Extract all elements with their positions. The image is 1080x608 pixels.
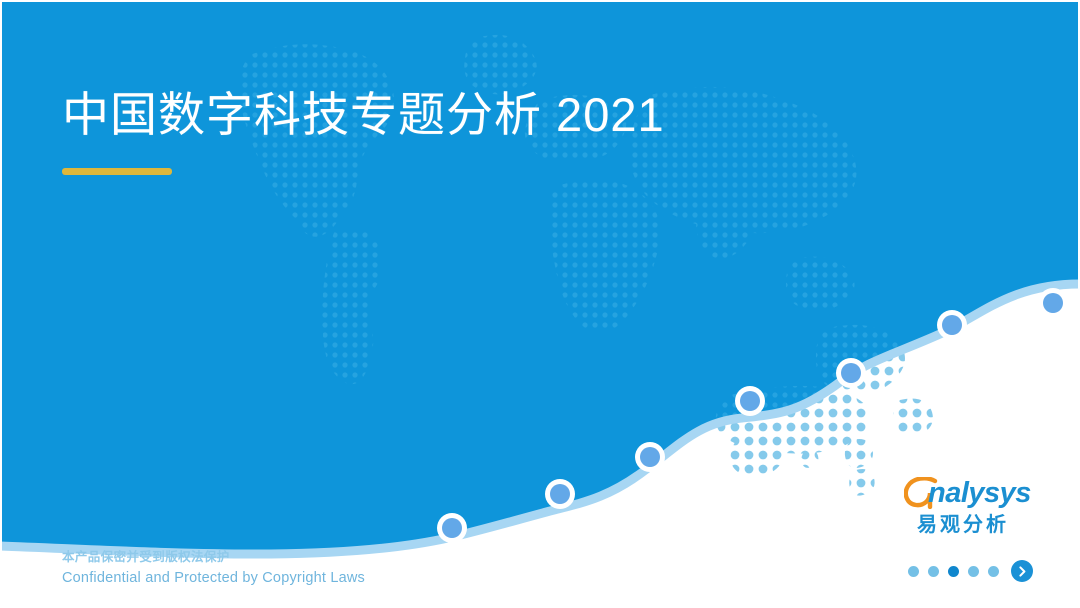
logo-wordmark-text: nalysys [928, 476, 1031, 510]
curve-marker [1038, 288, 1068, 318]
pager-dot-4[interactable] [968, 566, 979, 577]
curve-marker [437, 513, 467, 543]
presentation-slide: 中国数字科技专题分析 2021 本产品保密并受到版权法保护 Confidenti… [0, 0, 1080, 608]
curve-marker [937, 310, 967, 340]
curve-marker [635, 442, 665, 472]
title-accent-rule [62, 168, 172, 175]
curve-marker [545, 479, 575, 509]
copyright-notice-en: Confidential and Protected by Copyright … [62, 569, 365, 588]
copyright-notice-cn: 本产品保密并受到版权法保护 [62, 548, 365, 566]
chevron-right-icon [1017, 566, 1028, 577]
pager-dot-3[interactable] [948, 566, 959, 577]
pager-dot-2[interactable] [928, 566, 939, 577]
title-block: 中国数字科技专题分析 2021 [62, 82, 665, 175]
curve-marker [735, 386, 765, 416]
pager-dot-5[interactable] [988, 566, 999, 577]
curve-marker [836, 358, 866, 388]
analysys-logo: nalysys 易观分析 [898, 476, 1028, 538]
next-slide-button[interactable] [1011, 560, 1033, 582]
logo-wordmark: nalysys [898, 476, 1028, 510]
page-title: 中国数字科技专题分析 2021 [62, 82, 665, 148]
logo-chinese-name: 易观分析 [898, 512, 1028, 538]
pager-dot-1[interactable] [908, 566, 919, 577]
slide-pagination[interactable] [908, 560, 1033, 582]
copyright-footer: 本产品保密并受到版权法保护 Confidential and Protected… [62, 548, 365, 588]
